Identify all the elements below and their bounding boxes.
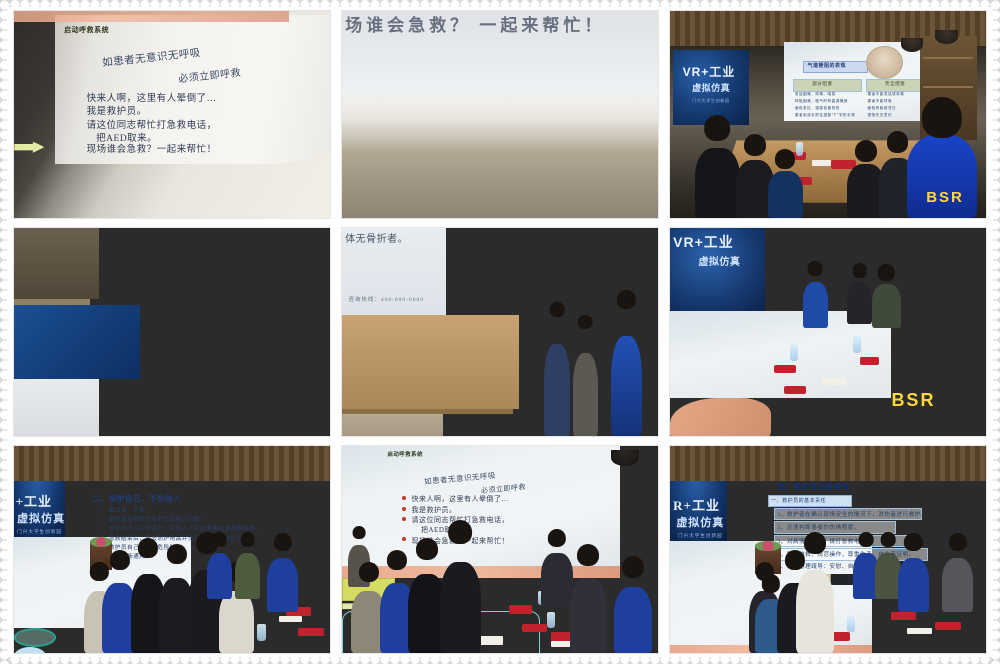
vr-banner-line1: VR+工业 <box>673 232 734 252</box>
slide-bullet-dot <box>402 507 406 511</box>
slide-text: 体无骨折者。 <box>345 230 408 245</box>
bsr-uniform-text: BSR <box>891 390 935 411</box>
slide-bullet-2: 我是救护员。 <box>412 505 457 515</box>
slide-bullet-1: 快来人啊，这里有人晕倒了… <box>412 494 510 504</box>
screen-red-band <box>342 566 620 578</box>
water-bottle <box>257 624 265 641</box>
audience-member <box>695 148 739 218</box>
photo-cell-middle-center[interactable]: 体无骨折者。 咨询热线：400-000-0000 <box>342 228 658 435</box>
slide-cell: 患者不能说话或咳嗽 <box>868 92 905 97</box>
audience-member <box>541 553 573 607</box>
slide-line-3: 3、有条件的人工呼吸时，使用人工呼吸面罩或简易呼吸器。 <box>99 524 261 532</box>
vr-banner-backdrop <box>14 305 140 380</box>
wood-shelving-wall <box>342 315 519 408</box>
slide-arm-illustration <box>670 398 771 435</box>
slide-overhead-text: 场谁会急救？ 一起来帮忙！ <box>345 11 605 36</box>
photo-cell-bottom-left[interactable]: +工业 虚拟仿真 门兴大学生创新园 二、保护自己，不伤他人 1、戴口罩、手套。 … <box>14 446 330 653</box>
slide-bullet-dot <box>402 537 406 541</box>
photo-7-content: +工业 虚拟仿真 门兴大学生创新园 二、保护自己，不伤他人 1、戴口罩、手套。 … <box>14 446 330 653</box>
vr-banner-line1: +工业 <box>16 491 52 510</box>
slide-cell: 面色发红、颈部血管怒张 <box>795 106 840 111</box>
photo-5-content: 体无骨折者。 咨询热线：400-000-0000 <box>342 228 658 435</box>
first-aid-kit <box>298 628 323 636</box>
stamp-edge-top <box>0 0 1000 9</box>
vr-banner-line1: VR+工业 <box>683 63 736 80</box>
handout-paper <box>812 160 831 166</box>
handout-paper <box>822 378 847 385</box>
surgical-mask-icon <box>14 647 46 653</box>
photo-grid: 启动呼救系统 如患者无意识无呼吸 必须立即呼救 快来人啊，这里有人晕倒了… 我是… <box>14 11 986 653</box>
audience-member <box>875 553 900 599</box>
photo-8-content: 启动呼救系统 如患者无意识无呼吸 必须立即呼救 快来人啊，这里有人晕倒了… 我是… <box>342 446 658 653</box>
slide-bullet-2: 我是救护员。 <box>87 103 147 117</box>
photo-2-content: 场谁会急救？ 一起来帮忙！ <box>342 11 658 218</box>
water-bottle <box>796 142 802 157</box>
audience-member <box>570 578 608 653</box>
first-aid-kit <box>784 386 806 394</box>
slide-tag-label: 启动呼救系统 <box>383 452 427 459</box>
audience-member <box>898 558 930 612</box>
slide-line-1: 1、救护者在确认现场安全的情况下，对伤者进行救护。 <box>777 510 927 518</box>
vr-banner-line2: 虚拟仿真 <box>692 81 730 94</box>
slide-line-2: 2、避免直接接触伤者的血液和分泌物。 <box>99 515 206 523</box>
photo-9-content: R+工业 虚拟仿真 门兴大学生创新园 四、救护员注意事项 一、救护员的基本责任 … <box>670 446 986 653</box>
water-bottle <box>853 336 861 353</box>
vr-banner-line3: 门兴大学生创新园 <box>678 533 723 539</box>
slide-bullet-1: 快来人啊，这里有人晕倒了… <box>87 90 217 104</box>
slide-line-4: 4、急救结束后，脱去防护用品并洗手，必要时做好消毒。 <box>99 534 255 542</box>
photo-cell-middle-right[interactable]: VR+工业 虚拟仿真 BSR <box>670 228 986 435</box>
observer <box>544 344 569 435</box>
slide-tag-label: 启动呼救系统 <box>63 26 110 36</box>
audience-member <box>235 553 260 599</box>
audience-member <box>942 558 974 612</box>
bookshelf <box>14 228 99 298</box>
pendant-lamp-icon <box>611 450 639 467</box>
slide-table-header-2-label: 完全阻塞 <box>885 81 905 87</box>
photo-cell-top-center[interactable]: 场谁会急救？ 一起来帮忙！ <box>342 11 658 218</box>
observer-medic <box>611 336 643 436</box>
slide-bullet-3: 请这位同志帮忙打急救电话， <box>87 117 217 131</box>
photo-cell-top-right[interactable]: VR+工业 虚拟仿真 门兴大学生创新园 气道梗阻的表现 部分阻塞 完全阻塞 说话… <box>670 11 986 218</box>
photo-4-content <box>14 228 330 435</box>
photo-cell-top-left[interactable]: 启动呼救系统 如患者无意识无呼吸 必须立即呼救 快来人啊，这里有人晕倒了… 我是… <box>14 11 330 218</box>
water-bottle <box>790 344 798 361</box>
audience-member <box>267 558 299 612</box>
participant <box>872 284 900 328</box>
photo-cell-middle-left[interactable] <box>14 228 330 435</box>
slide-table-header-1-label: 部分阻塞 <box>812 81 832 87</box>
slide-title: 四、救护员注意事项 <box>777 481 849 492</box>
vr-banner-line2: 虚拟仿真 <box>676 514 724 530</box>
first-aid-kit <box>522 624 547 632</box>
photo-1-content: 启动呼救系统 如患者无意识无呼吸 必须立即呼救 快来人啊，这里有人晕倒了… 我是… <box>14 11 330 218</box>
first-aid-kit <box>509 605 531 613</box>
audience-member <box>614 587 652 653</box>
shelf-line <box>923 57 974 59</box>
slide-cell: 很快失去意识 <box>868 113 893 118</box>
first-aid-kit <box>891 612 916 620</box>
observer <box>573 353 598 436</box>
screen-red-band <box>14 11 289 22</box>
slide-cell: 患者用双手抓住颈部“V”字形手势 <box>795 113 856 118</box>
bsr-uniform-text: BSR <box>926 189 964 206</box>
slide-cell: 说话困难、咳嗽、喘息 <box>795 92 836 97</box>
audience-member <box>768 171 803 219</box>
projection-screen <box>342 446 620 566</box>
stamp-edge-bottom <box>0 655 1000 664</box>
vr-banner-line2: 虚拟仿真 <box>698 253 740 268</box>
slide-cell: 面色有紫绀苍白 <box>868 106 897 111</box>
photo-cell-bottom-right[interactable]: R+工业 虚拟仿真 门兴大学生创新园 四、救护员注意事项 一、救护员的基本责任 … <box>670 446 986 653</box>
slide-cell: 患者不能呼吸 <box>868 99 893 104</box>
participant <box>847 282 872 323</box>
audience-member <box>440 562 481 653</box>
audience-member <box>796 570 834 653</box>
stage-riser <box>342 414 443 436</box>
slide-line-2: 2、迅速判断患者的伤情程度。 <box>777 523 860 531</box>
water-bottle <box>847 616 855 633</box>
slide-bullet-5: 现场谁会急救？一起来帮忙！ <box>87 141 217 155</box>
vr-banner-line2: 虚拟仿真 <box>17 510 65 526</box>
slide-footer: 咨询热线：400-000-0000 <box>348 295 424 303</box>
wood-slat-ceiling <box>14 446 330 481</box>
participant <box>803 282 828 328</box>
slide-cell: 呼吸困难、喘气时有高调噪音 <box>795 99 848 104</box>
slide-title: 二、保护自己，不伤他人 <box>93 493 181 504</box>
shelf-line <box>923 86 974 88</box>
vr-banner-line3: 门兴大学生创新园 <box>692 98 730 104</box>
slide-line-1: 1、戴口罩、手套。 <box>99 506 151 514</box>
slide-subtitle: 一、救护员的基本责任 <box>771 497 826 504</box>
stamp-edge-left <box>0 0 9 664</box>
projection-screen <box>14 379 99 435</box>
room-wall <box>342 11 658 218</box>
first-aid-kit <box>774 365 796 373</box>
audience-member <box>207 553 232 599</box>
handout-paper <box>279 616 301 622</box>
pendant-lamp-icon <box>935 30 957 45</box>
photo-3-content: VR+工业 虚拟仿真 门兴大学生创新园 气道梗阻的表现 部分阻塞 完全阻塞 说话… <box>670 11 986 218</box>
projection-screen <box>670 311 891 398</box>
goggles-icon <box>14 628 56 647</box>
audience-member <box>219 591 254 653</box>
vr-banner-line3: 门兴大学生创新园 <box>17 529 62 535</box>
slide-illustration <box>866 46 903 79</box>
photo-cell-bottom-center[interactable]: 启动呼救系统 如患者无意识无呼吸 必须立即呼救 快来人啊，这里有人晕倒了… 我是… <box>342 446 658 653</box>
stamp-edge-right <box>991 0 1000 664</box>
water-bottle <box>547 612 555 629</box>
wood-slat-ceiling <box>670 446 986 481</box>
first-aid-kit <box>860 357 879 365</box>
photo-6-content: VR+工业 虚拟仿真 BSR <box>670 228 986 435</box>
vr-banner-line1: R+工业 <box>673 495 720 514</box>
slide-title: 气道梗阻的表现 <box>807 62 846 69</box>
collage-canvas: 启动呼救系统 如患者无意识无呼吸 必须立即呼救 快来人啊，这里有人晕倒了… 我是… <box>0 0 1000 664</box>
first-aid-kit <box>935 622 960 630</box>
handout-paper <box>907 628 932 634</box>
